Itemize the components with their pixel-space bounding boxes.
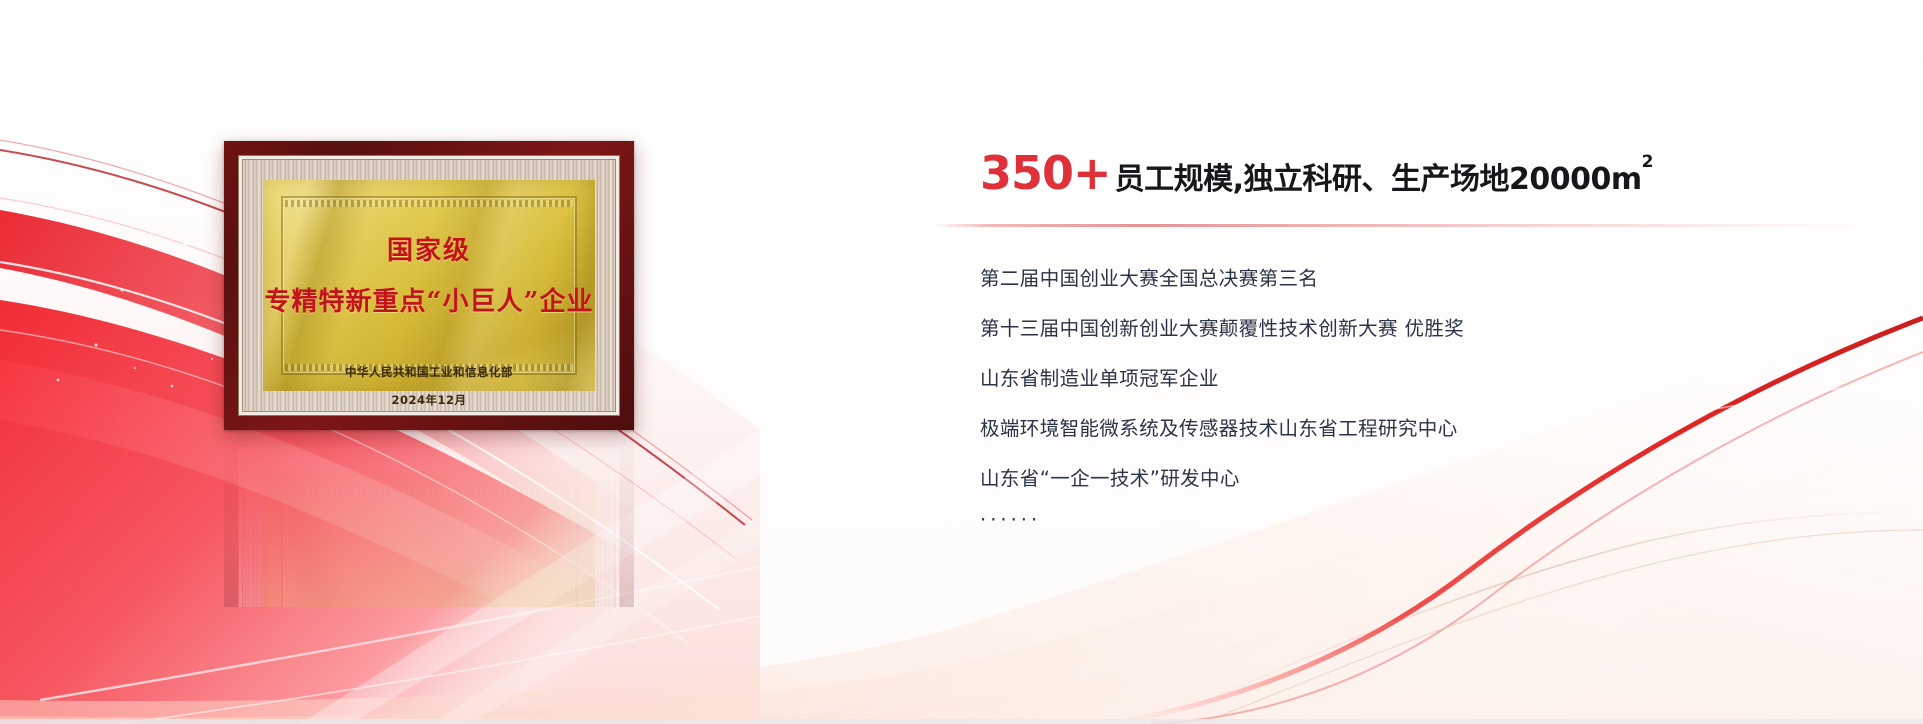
plaque-title-line-1: 国家级 xyxy=(387,230,471,267)
plaque-inscription: 国家级 专精特新重点“小巨人”企业 中华人民共和国工业和信息化部 2024年12… xyxy=(295,216,563,361)
list-item: 极端环境智能微系统及传感器技术山东省工程研究中心 xyxy=(980,412,1880,441)
plaque-reflection xyxy=(224,432,634,607)
headline-number: 350+ xyxy=(980,150,1111,196)
plaque-title-line-2: 专精特新重点“小巨人”企业 xyxy=(265,281,594,318)
plaque-date: 2024年12月 xyxy=(391,392,466,408)
awards-list: 第二届中国创业大赛全国总决赛第三名 第十三届中国创新创业大赛颠覆性技术创新大赛 … xyxy=(980,262,1880,531)
plaque-gold-panel: 国家级 专精特新重点“小巨人”企业 中华人民共和国工业和信息化部 2024年12… xyxy=(263,180,595,391)
headline: 350+ 员工规模,独立科研、生产场地20000m2 xyxy=(980,150,1880,196)
headline-superscript: 2 xyxy=(1642,152,1653,172)
award-plaque[interactable]: 国家级 专精特新重点“小巨人”企业 中华人民共和国工业和信息化部 2024年12… xyxy=(224,141,634,430)
plaque-ornamental-border: 国家级 专精特新重点“小巨人”企业 中华人民共和国工业和信息化部 2024年12… xyxy=(238,155,620,416)
banner-stage: 国家级 专精特新重点“小巨人”企业 中华人民共和国工业和信息化部 2024年12… xyxy=(0,0,1923,724)
list-item: 第二届中国创业大赛全国总决赛第三名 xyxy=(980,262,1880,291)
list-item: 第十三届中国创新创业大赛颠覆性技术创新大赛 优胜奖 xyxy=(980,312,1880,341)
list-item: 山东省“一企一技术”研发中心 xyxy=(980,462,1880,491)
plaque-outer-frame: 国家级 专精特新重点“小巨人”企业 中华人民共和国工业和信息化部 2024年12… xyxy=(224,141,634,430)
content-panel: 350+ 员工规模,独立科研、生产场地20000m2 第二届中国创业大赛全国总决… xyxy=(980,150,1880,531)
headline-text: 员工规模,独立科研、生产场地20000m2 xyxy=(1115,165,1653,195)
headline-rest: 员工规模,独立科研、生产场地20000m xyxy=(1115,162,1642,197)
plaque-issuer: 中华人民共和国工业和信息化部 xyxy=(345,364,513,380)
list-item: 山东省制造业单项冠军企业 xyxy=(980,362,1880,391)
headline-divider xyxy=(932,224,1880,227)
awards-ellipsis: ······ xyxy=(980,508,1880,531)
